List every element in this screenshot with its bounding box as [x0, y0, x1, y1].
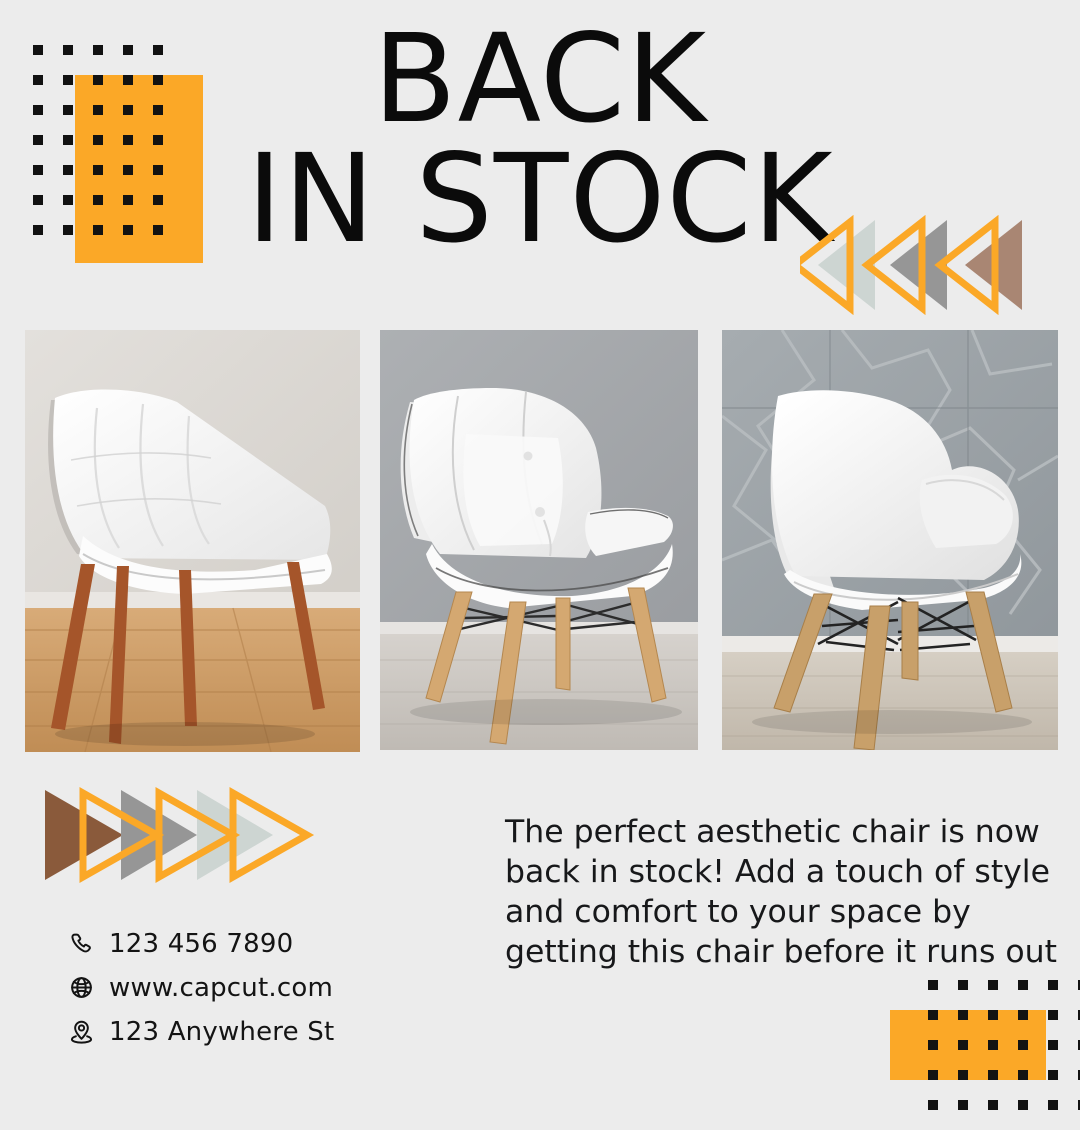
contact-row-address[interactable]: 123 Anywhere St [66, 1013, 396, 1050]
body-copy-line-2: back in stock! Add a touch of style [505, 854, 1050, 890]
photo-chair-3 [722, 330, 1058, 750]
contact-row-phone[interactable]: 123 456 7890 [66, 925, 396, 962]
location-icon [66, 1019, 96, 1045]
dot [958, 1070, 968, 1080]
body-copy-line-3: and comfort to your space by [505, 894, 971, 930]
arrow-cluster-bottom-left [45, 785, 315, 885]
poster-canvas: BACK IN STOCK [0, 0, 1080, 1080]
dot [1018, 1040, 1028, 1050]
dot [958, 1040, 968, 1050]
dot [988, 1010, 998, 1020]
headline-line-1: BACK [0, 20, 1080, 140]
dot [928, 1040, 938, 1050]
body-copy-line-4: getting this chair before it runs out [505, 934, 1057, 970]
contact-list: 123 456 7890 www.capcut.com [66, 925, 396, 1057]
body-copy-line-1: The perfect aesthetic chair is now [505, 814, 1040, 850]
dot [928, 980, 938, 990]
dot-grid-bottom-right [928, 980, 1080, 1130]
phone-icon [66, 931, 96, 957]
dot [988, 980, 998, 990]
dot [988, 1070, 998, 1080]
arrow-cluster-top-right [800, 215, 1050, 315]
body-copy: The perfect aesthetic chair is now back … [505, 812, 1065, 972]
dot [1018, 980, 1028, 990]
dot [928, 1100, 938, 1110]
globe-icon [66, 975, 96, 1001]
contact-text-website: www.capcut.com [109, 973, 333, 1003]
dot [1048, 1010, 1058, 1020]
photo-chair-1 [25, 330, 360, 752]
photo-chair-2 [380, 330, 698, 750]
contact-row-website[interactable]: www.capcut.com [66, 969, 396, 1006]
dot [988, 1100, 998, 1110]
dot [1048, 1100, 1058, 1110]
dot [928, 1010, 938, 1020]
dot [928, 1070, 938, 1080]
dot [1018, 1070, 1028, 1080]
contact-text-address: 123 Anywhere St [109, 1017, 334, 1047]
dot [988, 1040, 998, 1050]
dot [1048, 1040, 1058, 1050]
dot [1048, 980, 1058, 990]
dot [1018, 1100, 1028, 1110]
dot [1048, 1070, 1058, 1080]
contact-text-phone: 123 456 7890 [109, 929, 293, 959]
dot [1018, 1010, 1028, 1020]
dot [958, 1100, 968, 1110]
dot [958, 980, 968, 990]
dot [958, 1010, 968, 1020]
